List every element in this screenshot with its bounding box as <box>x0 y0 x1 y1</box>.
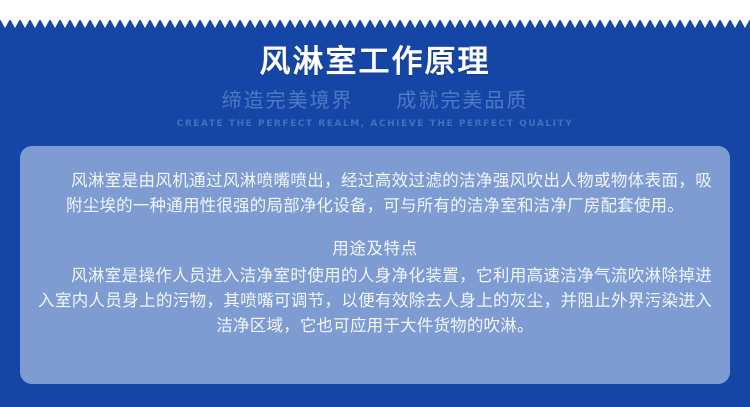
banner-header: 风淋室工作原理 缔造完美境界 成就完美品质 CREATE THE PERFECT… <box>0 28 750 131</box>
working-principle-paragraph: 风淋室是由风机通过风淋喷嘴喷出，经过高效过滤的洁净强风吹出人物或物体表面，吸附尘… <box>32 168 718 218</box>
page-title: 风淋室工作原理 <box>0 42 750 82</box>
description-panel: 风淋室是由风机通过风淋喷嘴喷出，经过高效过滤的洁净强风吹出人物或物体表面，吸附尘… <box>20 146 730 384</box>
section-heading-uses-and-features: 用途及特点 <box>32 236 718 261</box>
top-white-margin <box>0 0 750 20</box>
zigzag-divider-icon <box>0 19 750 28</box>
uses-and-features-paragraph: 风淋室是操作人员进入洁净室时使用的人身净化装置，它利用高速洁净气流吹淋除掉进入室… <box>32 263 718 338</box>
subtitle-left-part: 缔造完美境界 <box>222 88 354 112</box>
page-subtitle: 缔造完美境界 成就完美品质 <box>0 86 750 114</box>
english-tagline: CREATE THE PERFECT REALM, ACHIEVE THE PE… <box>0 117 750 131</box>
product-detail-banner: 风淋室工作原理 缔造完美境界 成就完美品质 CREATE THE PERFECT… <box>0 0 750 407</box>
subtitle-right-part: 成就完美品质 <box>396 88 528 112</box>
